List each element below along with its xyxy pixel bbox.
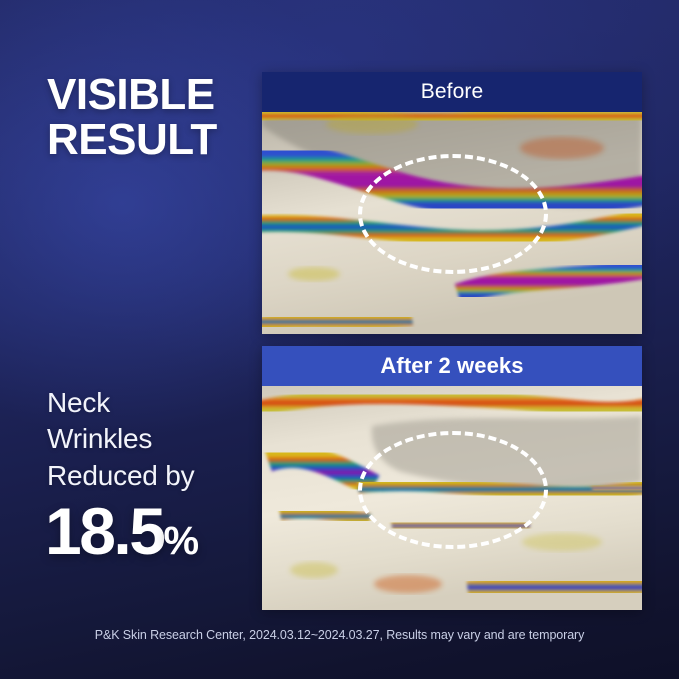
study-disclaimer: P&K Skin Research Center, 2024.03.12~202… (0, 628, 679, 642)
result-statistic: 18.5% (45, 498, 198, 564)
result-unit: % (163, 519, 198, 563)
claim-line-3: Reduced by (47, 458, 262, 494)
thermal-map-before (262, 112, 642, 334)
comparison-panel-after: After 2 weeks (262, 346, 642, 610)
panel-caption-before: Before (262, 72, 642, 112)
comparison-panel-before: Before (262, 72, 642, 334)
result-value: 18.5 (45, 494, 163, 568)
headline-line-1: VISIBLE (47, 72, 262, 117)
claim-line-2: Wrinkles (47, 421, 262, 457)
promo-image-root: VISIBLE RESULT Neck Wrinkles Reduced by … (0, 0, 679, 679)
claim-text: Neck Wrinkles Reduced by (47, 385, 262, 494)
panel-caption-after: After 2 weeks (262, 346, 642, 386)
skin-topography-image-before (262, 112, 642, 334)
headline-line-2: RESULT (47, 117, 262, 162)
claim-line-1: Neck (47, 385, 262, 421)
skin-topography-image-after (262, 386, 642, 610)
thermal-map-after (262, 386, 642, 610)
page-title: VISIBLE RESULT (47, 72, 262, 163)
